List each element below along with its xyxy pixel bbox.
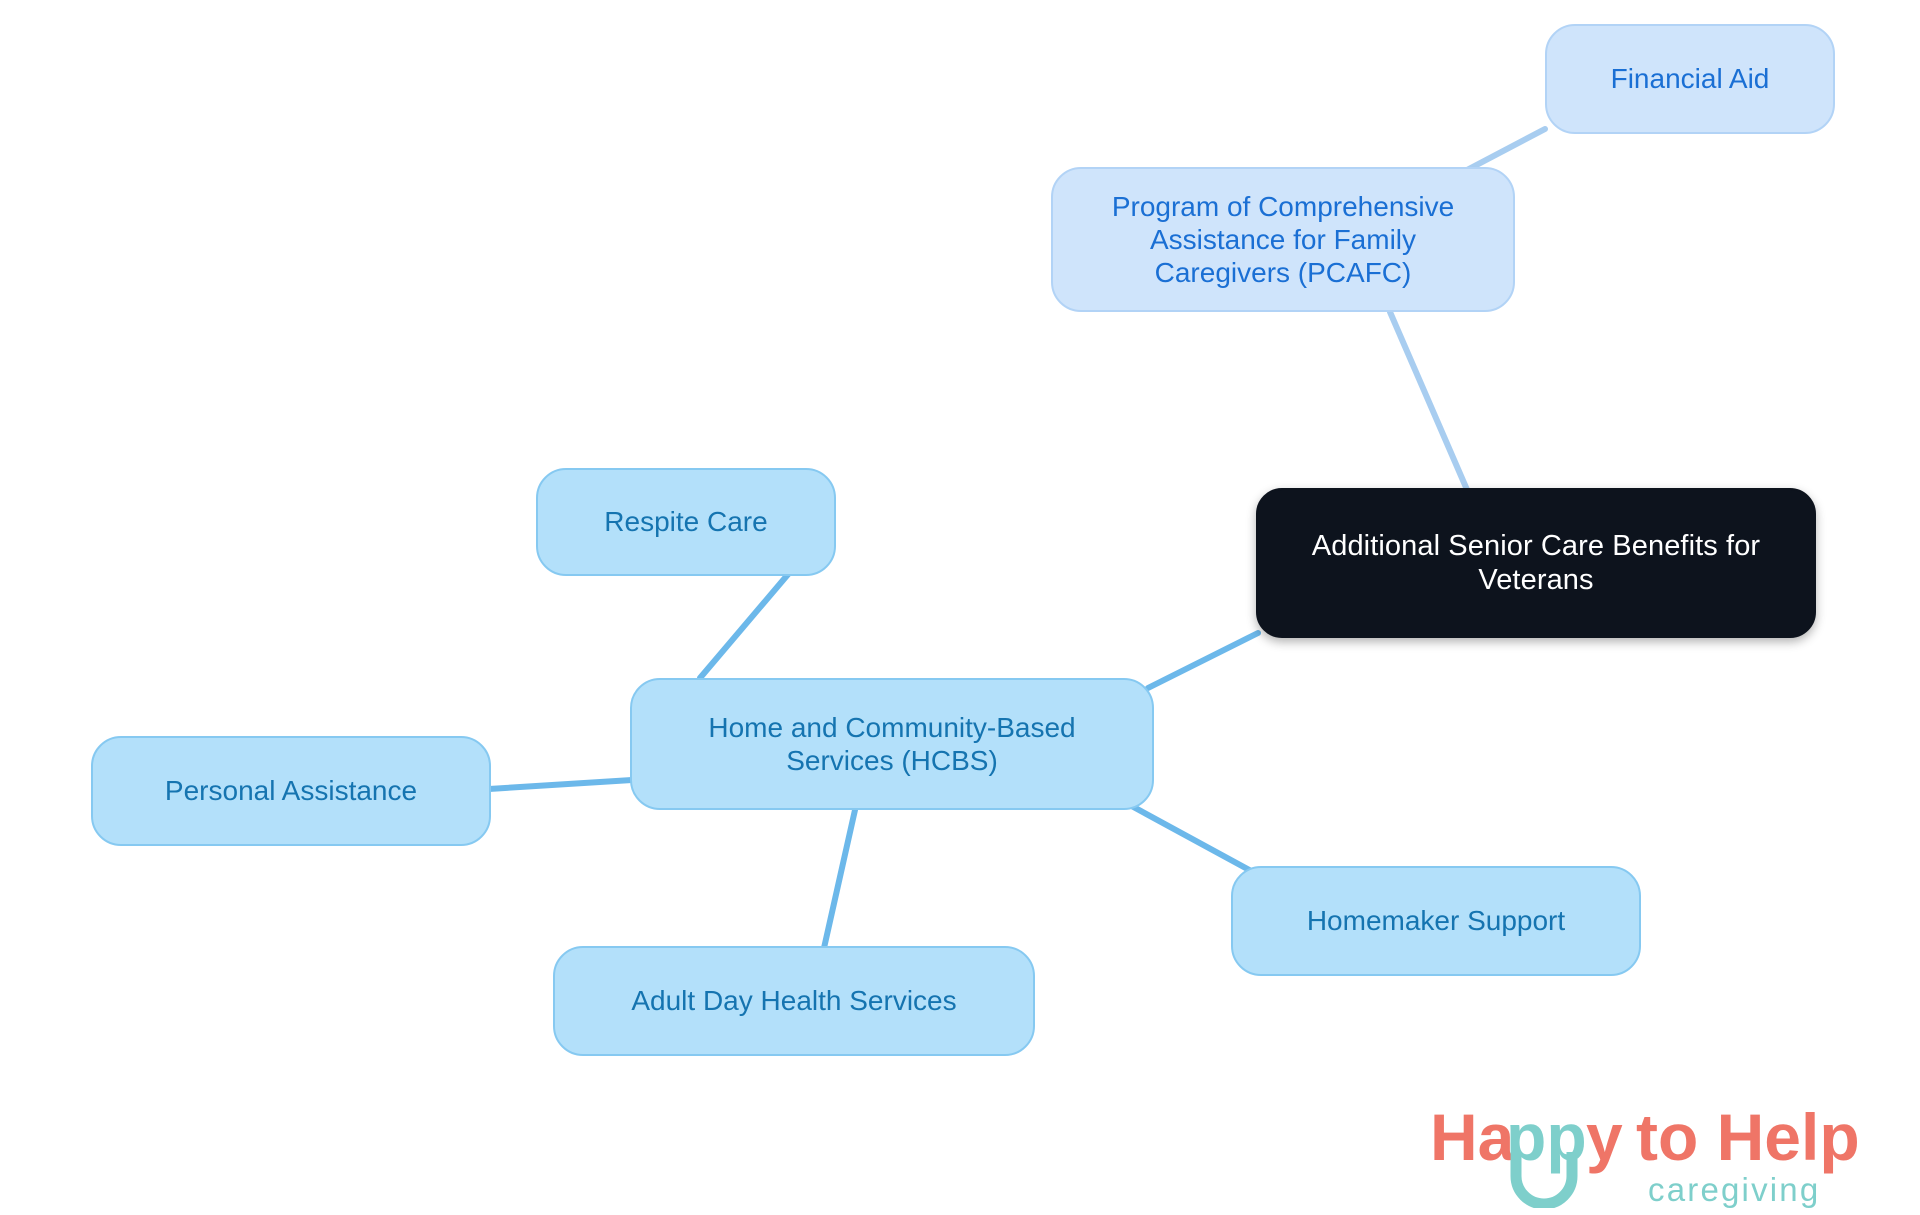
logo-word-happy-y: y bbox=[1586, 1100, 1623, 1174]
mind-map-canvas: Financial Aid Program of Comprehensive A… bbox=[0, 0, 1920, 1215]
logo-tagline-caregiving: caregiving bbox=[1648, 1171, 1820, 1208]
edge-hcbs-personal-assistance bbox=[489, 780, 632, 789]
node-homemaker-support[interactable]: Homemaker Support bbox=[1231, 866, 1641, 976]
node-adult-day-health-services[interactable]: Adult Day Health Services bbox=[553, 946, 1035, 1056]
node-respite-care[interactable]: Respite Care bbox=[536, 468, 836, 576]
edge-hcbs-respite-care bbox=[700, 572, 790, 678]
logo-word-happy-pp: pp bbox=[1506, 1100, 1587, 1174]
logo-word-happy-ha: Ha bbox=[1430, 1100, 1516, 1174]
edge-hcbs-homemaker bbox=[1128, 804, 1253, 872]
node-financial-aid[interactable]: Financial Aid bbox=[1545, 24, 1835, 134]
node-home-and-community-based-services[interactable]: Home and Community-Based Services (HCBS) bbox=[630, 678, 1154, 810]
node-personal-assistance[interactable]: Personal Assistance bbox=[91, 736, 491, 846]
node-pcafc[interactable]: Program of Comprehensive Assistance for … bbox=[1051, 167, 1515, 312]
edge-hcbs-adult-day bbox=[824, 810, 855, 948]
happy-to-help-caregiving-logo: Ha pp y to Help caregiving bbox=[1430, 1100, 1890, 1208]
edge-root-hcbs bbox=[1148, 633, 1258, 688]
node-root-additional-senior-care-benefits[interactable]: Additional Senior Care Benefits for Vete… bbox=[1256, 488, 1816, 638]
logo-word-to-help: to Help bbox=[1636, 1100, 1860, 1174]
edge-pcafc-root bbox=[1390, 312, 1468, 492]
